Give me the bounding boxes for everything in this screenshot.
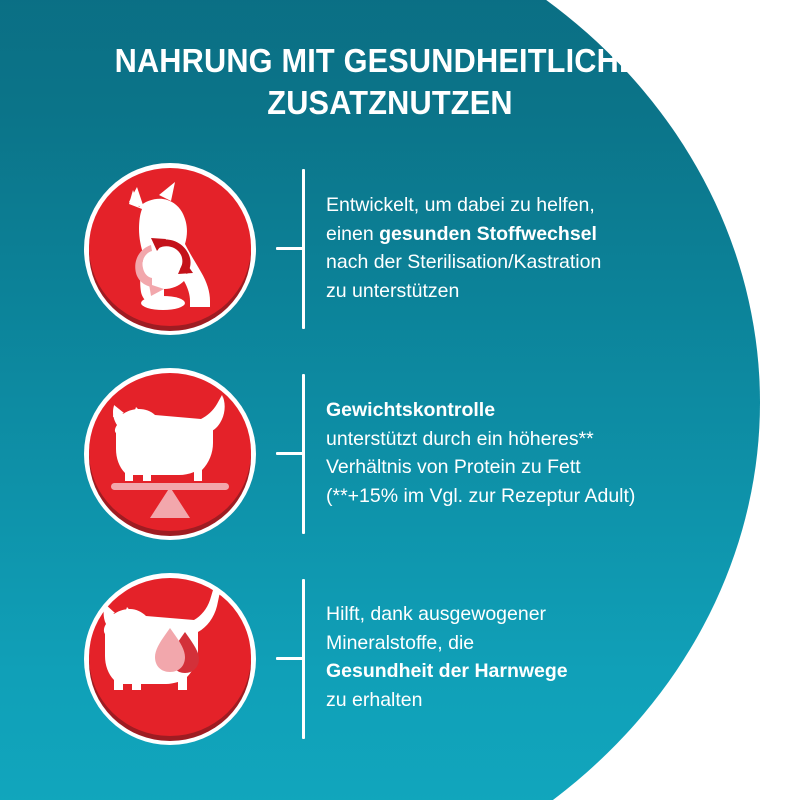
benefit-text-2: Gewichtskontrolleunterstützt durch ein h… [326, 396, 726, 511]
benefit-text-run: unterstützt durch ein höheres** [326, 428, 594, 450]
benefit-icon-badge-3 [84, 573, 256, 745]
benefit-icon-badge-2 [84, 368, 256, 540]
benefit-text-line: Entwickelt, um dabei zu helfen, [326, 191, 726, 220]
benefit-text-run: einen [326, 223, 379, 245]
connector-tick [276, 452, 304, 455]
benefit-text-line: unterstützt durch ein höheres** [326, 425, 726, 454]
connector-tick [276, 657, 304, 660]
benefit-text-3: Hilft, dank ausgewogenerMineralstoffe, d… [326, 600, 726, 715]
benefit-row-urinary: Hilft, dank ausgewogenerMineralstoffe, d… [0, 573, 800, 753]
benefit-row-weight: Gewichtskontrolleunterstützt durch ein h… [0, 368, 800, 548]
benefit-text-run: nach der Sterilisation/Kastration [326, 251, 601, 273]
page-title: NAHRUNG MIT GESUNDHEITLICHEM ZUSATZNUTZE… [83, 40, 697, 123]
benefit-text-line: Gewichtskontrolle [326, 396, 726, 425]
benefit-text-run: zu unterstützen [326, 280, 459, 302]
benefit-text-line: einen gesunden Stoffwechsel [326, 220, 726, 249]
benefit-text-line: nach der Sterilisation/Kastration [326, 248, 726, 277]
connector-line-1 [268, 163, 308, 335]
cat-on-balance-scale-icon [89, 373, 251, 531]
benefit-text-line: Verhältnis von Protein zu Fett [326, 453, 726, 482]
benefit-text-emphasis: gesunden Stoffwechsel [379, 223, 597, 245]
benefit-text-line: (**+15% im Vgl. zur Rezeptur Adult) [326, 482, 726, 511]
benefit-text-run: zu erhalten [326, 689, 422, 711]
benefit-text-line: zu unterstützen [326, 277, 726, 306]
benefit-text-1: Entwickelt, um dabei zu helfen,einen ges… [326, 191, 726, 306]
connector-line-3 [268, 573, 308, 745]
benefit-text-line: Mineralstoffe, die [326, 629, 726, 658]
benefit-text-line: Gesundheit der Harnwege [326, 657, 726, 686]
benefit-text-line: zu erhalten [326, 686, 726, 715]
walking-cat-water-droplet-icon [89, 578, 251, 736]
connector-tick [276, 247, 304, 250]
infographic-canvas: NAHRUNG MIT GESUNDHEITLICHEM ZUSATZNUTZE… [0, 0, 800, 800]
benefit-text-run: Hilft, dank ausgewogener [326, 603, 546, 625]
benefit-icon-badge-1 [84, 163, 256, 335]
benefit-text-run: Entwickelt, um dabei zu helfen, [326, 194, 595, 216]
benefit-text-line: Hilft, dank ausgewogener [326, 600, 726, 629]
benefit-text-run: (**+15% im Vgl. zur Rezeptur Adult) [326, 485, 635, 507]
sitting-cat-metabolism-cycle-icon [89, 168, 251, 326]
benefit-text-emphasis: Gesundheit der Harnwege [326, 660, 568, 682]
benefit-text-run: Verhältnis von Protein zu Fett [326, 456, 581, 478]
benefit-row-metabolism: Entwickelt, um dabei zu helfen,einen ges… [0, 163, 800, 343]
benefit-text-run: Mineralstoffe, die [326, 632, 474, 654]
connector-line-2 [268, 368, 308, 540]
benefit-text-emphasis: Gewichtskontrolle [326, 399, 495, 421]
